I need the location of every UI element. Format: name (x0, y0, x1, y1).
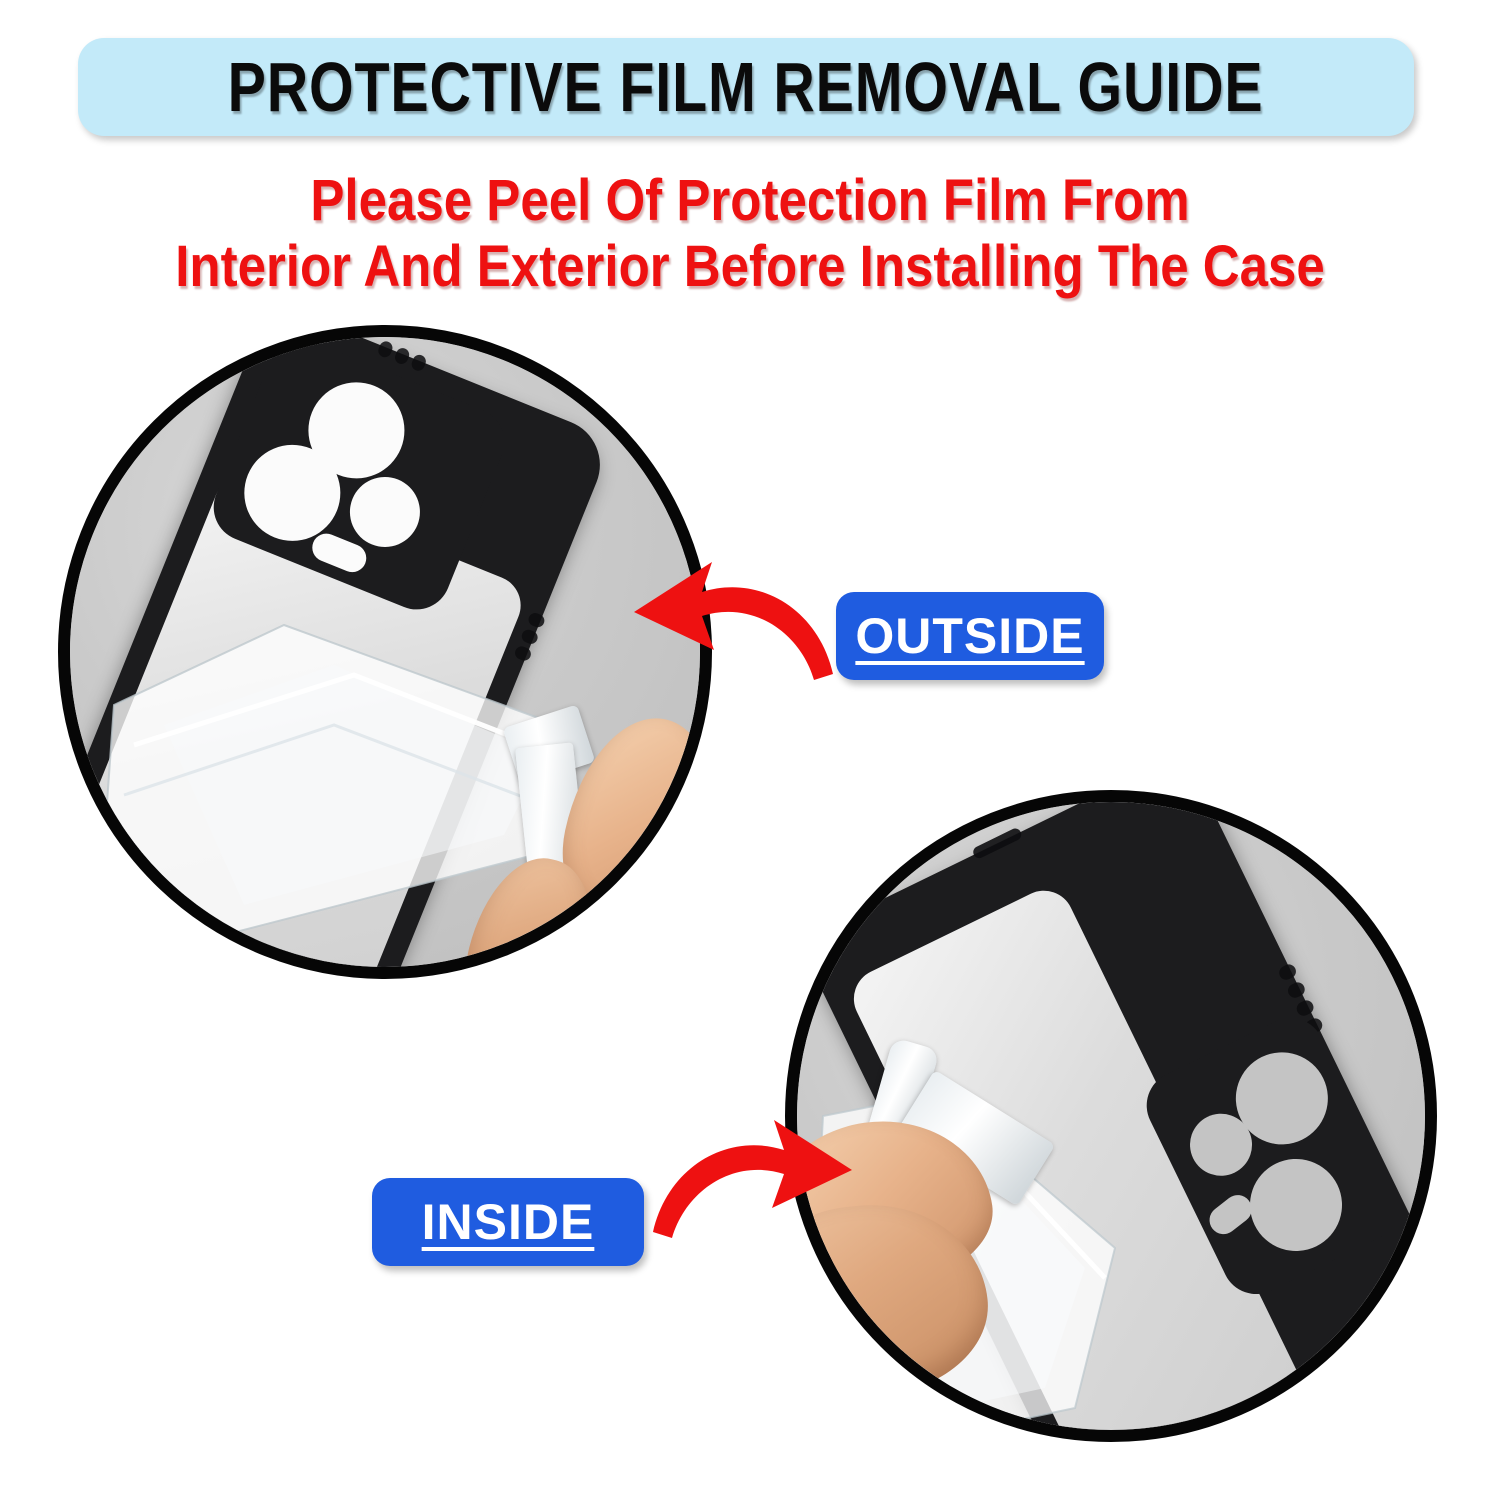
button-cutout (971, 827, 1023, 861)
badge-inside-label: INSIDE (422, 1193, 595, 1251)
instruction-line-1: Please Peel Of Protection Film From (90, 168, 1410, 234)
badge-outside[interactable]: OUTSIDE (836, 592, 1104, 680)
header-banner: PROTECTIVE FILM REMOVAL GUIDE (78, 38, 1414, 136)
bumper-ridge (1286, 980, 1307, 1000)
bumper-ridge (410, 353, 428, 373)
arrow-outside (628, 556, 838, 686)
bumper-ridge (1294, 998, 1315, 1018)
instruction-subtitle: Please Peel Of Protection Film From Inte… (0, 168, 1500, 300)
instruction-line-2: Interior And Exterior Before Installing … (90, 234, 1410, 300)
photo-inside-background (797, 802, 1425, 1430)
photo-outside (58, 325, 712, 979)
badge-outside-label: OUTSIDE (855, 607, 1084, 665)
camera-lens-tertiary (1235, 1143, 1358, 1266)
arrow-inside (648, 1108, 858, 1240)
bumper-ridge (1277, 962, 1298, 982)
photo-inside (785, 790, 1437, 1442)
bumper-ridge (393, 346, 411, 366)
bumper-ridge (376, 339, 394, 359)
photo-outside-background (70, 337, 700, 967)
page-title: PROTECTIVE FILM REMOVAL GUIDE (228, 52, 1264, 122)
badge-inside[interactable]: INSIDE (372, 1178, 644, 1266)
